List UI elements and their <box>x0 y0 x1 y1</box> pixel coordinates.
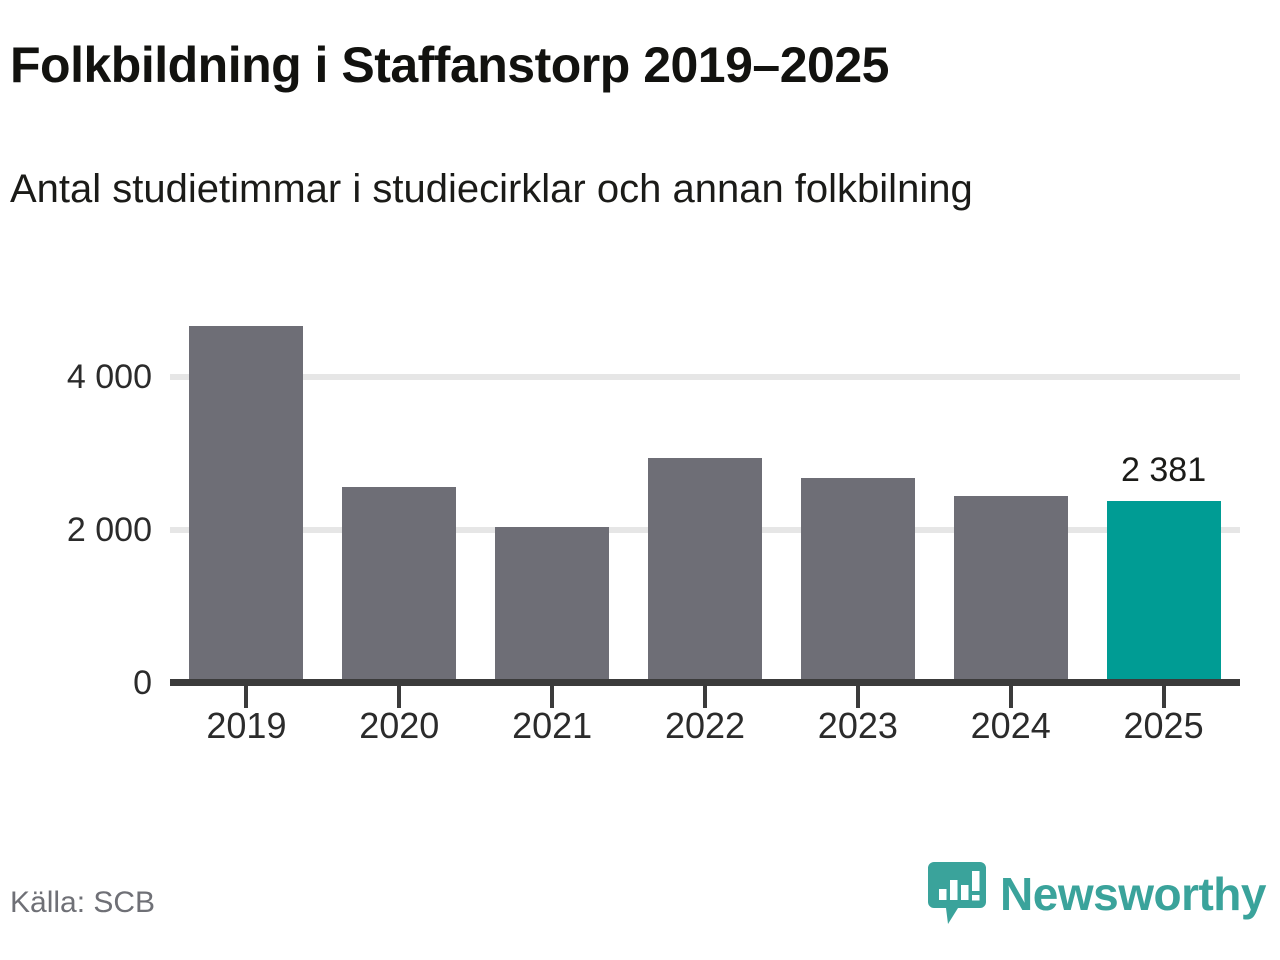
y-axis-tick-label: 0 <box>22 666 152 700</box>
brand-wordmark: Newsworthy <box>1000 871 1266 917</box>
bar-value-label: 2 381 <box>1074 453 1254 487</box>
x-axis-tick-label: 2021 <box>482 704 622 748</box>
newsworthy-logo: Newsworthy <box>928 862 1266 926</box>
y-axis-tick-label: 4 000 <box>22 360 152 394</box>
bar[interactable] <box>342 487 456 683</box>
bar-chart-speech-bubble-icon <box>928 862 986 926</box>
bar[interactable] <box>495 527 609 683</box>
y-axis-tick-label: 2 000 <box>22 513 152 547</box>
x-axis-tick-label: 2023 <box>788 704 928 748</box>
plot-area: 02 0004 000 2019202020212022202320242025… <box>0 0 1280 960</box>
gridline <box>170 374 1240 380</box>
chart-page: Folkbildning i Staffanstorp 2019–2025 An… <box>0 0 1280 960</box>
x-axis-line <box>170 679 1240 686</box>
x-axis-tick-label: 2024 <box>941 704 1081 748</box>
bar[interactable] <box>801 478 915 683</box>
x-axis-tick-label: 2020 <box>329 704 469 748</box>
bar-highlighted[interactable] <box>1107 501 1221 683</box>
bar[interactable] <box>648 458 762 683</box>
source-note: Källa: SCB <box>10 884 155 922</box>
x-axis-tick-label: 2022 <box>635 704 775 748</box>
x-axis-tick-label: 2019 <box>176 704 316 748</box>
x-axis-tick-label: 2025 <box>1094 704 1234 748</box>
bar[interactable] <box>189 326 303 683</box>
bar[interactable] <box>954 496 1068 683</box>
